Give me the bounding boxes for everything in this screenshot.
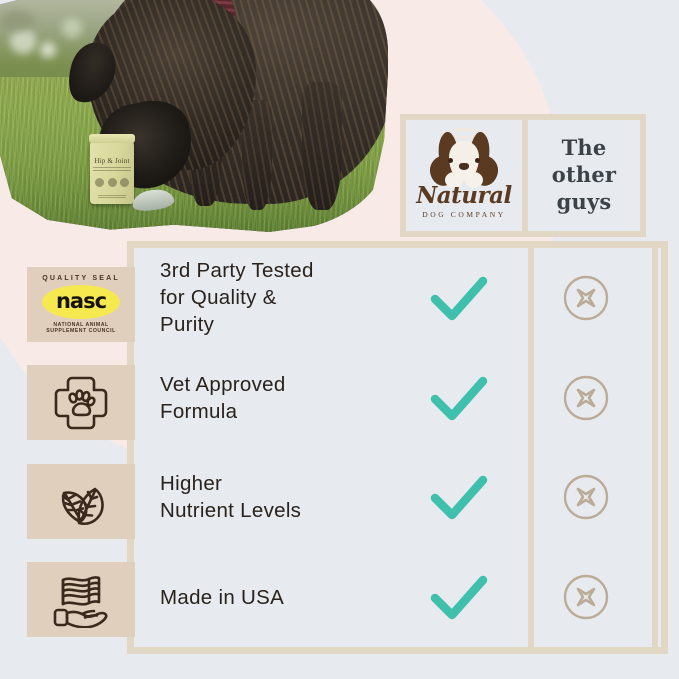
other-guys-line2: guys — [528, 189, 640, 216]
header-cell-brand: Natural DOG COMPANY — [400, 114, 528, 237]
table-row: Made in USA — [134, 547, 661, 647]
claim-line: Vet Approved — [160, 371, 394, 398]
other-guys-title: The other guys — [528, 135, 640, 216]
other-mark-cell — [524, 274, 648, 322]
jar-badge-icon — [95, 178, 104, 187]
feature-badge — [27, 365, 135, 440]
check-icon — [428, 571, 490, 623]
nasc-quality-seal-icon: QUALITY SEAL nasc NATIONAL ANIMAL SUPPLE… — [33, 274, 129, 336]
other-mark-cell — [524, 473, 648, 521]
jar-lid — [89, 134, 135, 143]
nasc-wordmark: nasc — [33, 291, 129, 312]
claim-line: Nutrient Levels — [160, 497, 394, 524]
claim-line: Formula — [160, 398, 394, 425]
paw-medical-cross-icon — [52, 374, 110, 432]
nasc-bottom-text: NATIONAL ANIMAL SUPPLEMENT COUNCIL — [33, 322, 129, 334]
bokeh-dot — [0, 10, 34, 32]
claim-text: 3rd Party Tested for Quality & Purity — [134, 257, 394, 338]
claim-text: Higher Nutrient Levels — [134, 470, 394, 524]
jar-badge-row — [95, 178, 129, 189]
dog-photo: Hip & Joint — [0, 0, 388, 232]
claim-line: 3rd Party Tested — [160, 257, 394, 284]
table-row: Vet Approved Formula — [134, 348, 661, 448]
comparison-infographic: Hip & Joint — [0, 0, 679, 679]
x-circle-icon — [562, 374, 610, 422]
dog-eye-right — [475, 158, 480, 163]
check-icon — [428, 372, 490, 424]
brand-mark-cell — [394, 471, 524, 523]
dog-leg — [302, 82, 342, 210]
other-guys-line1: The other — [528, 135, 640, 189]
dog-nose — [459, 163, 469, 170]
feature-badge — [27, 464, 135, 539]
x-circle-icon — [562, 274, 610, 322]
other-mark-cell — [524, 573, 648, 621]
brand-mark-cell — [394, 571, 524, 623]
leaves-icon — [50, 476, 112, 528]
claim-line: for Quality & — [160, 284, 394, 311]
dog-eye-left — [448, 158, 453, 163]
table-body: 3rd Party Tested for Quality & Purity Ve… — [134, 248, 661, 647]
jar-badge-icon — [108, 178, 117, 187]
table-header-row: Natural DOG COMPANY The other guys — [400, 114, 652, 237]
claim-text: Made in USA — [134, 584, 394, 611]
claim-line: Made in USA — [160, 584, 394, 611]
nasc-top-text: QUALITY SEAL — [33, 275, 129, 282]
brand-mark-cell — [394, 372, 524, 424]
claim-line: Purity — [160, 311, 394, 338]
check-icon — [428, 272, 490, 324]
bokeh-dot — [40, 42, 56, 58]
dog-halo-logo-icon: Natural DOG COMPANY — [410, 124, 518, 228]
hero-photo: Hip & Joint — [0, 0, 388, 232]
jar-badge-icon — [120, 178, 129, 187]
brand-subtitle: DOG COMPANY — [410, 210, 518, 219]
brand-wordmark: Natural — [410, 182, 518, 209]
check-icon — [428, 471, 490, 523]
x-circle-icon — [562, 573, 610, 621]
product-jar: Hip & Joint — [90, 140, 134, 204]
jar-sublabel — [93, 167, 131, 172]
dog-face-icon — [428, 132, 500, 188]
feature-badge: QUALITY SEAL nasc NATIONAL ANIMAL SUPPLE… — [27, 267, 135, 342]
jar-label-text: Hip & Joint — [90, 157, 134, 165]
x-circle-icon — [562, 473, 610, 521]
claim-line: Higher — [160, 470, 394, 497]
jar-footer-text — [98, 195, 126, 199]
header-cell-other-guys: The other guys — [522, 114, 646, 237]
bokeh-dot — [62, 18, 82, 38]
hero-alt-text: Brindle mastiff dog sniffing a Hip & Joi… — [0, 0, 1, 1]
table-row: 3rd Party Tested for Quality & Purity — [134, 248, 661, 348]
hand-holding-usa-flag-icon — [49, 572, 113, 628]
table-row: Higher Nutrient Levels — [134, 448, 661, 548]
other-mark-cell — [524, 374, 648, 422]
brand-mark-cell — [394, 272, 524, 324]
feature-badge-column: QUALITY SEAL nasc NATIONAL ANIMAL SUPPLE… — [0, 241, 140, 654]
claim-text: Vet Approved Formula — [134, 371, 394, 425]
feature-badge — [27, 562, 135, 637]
